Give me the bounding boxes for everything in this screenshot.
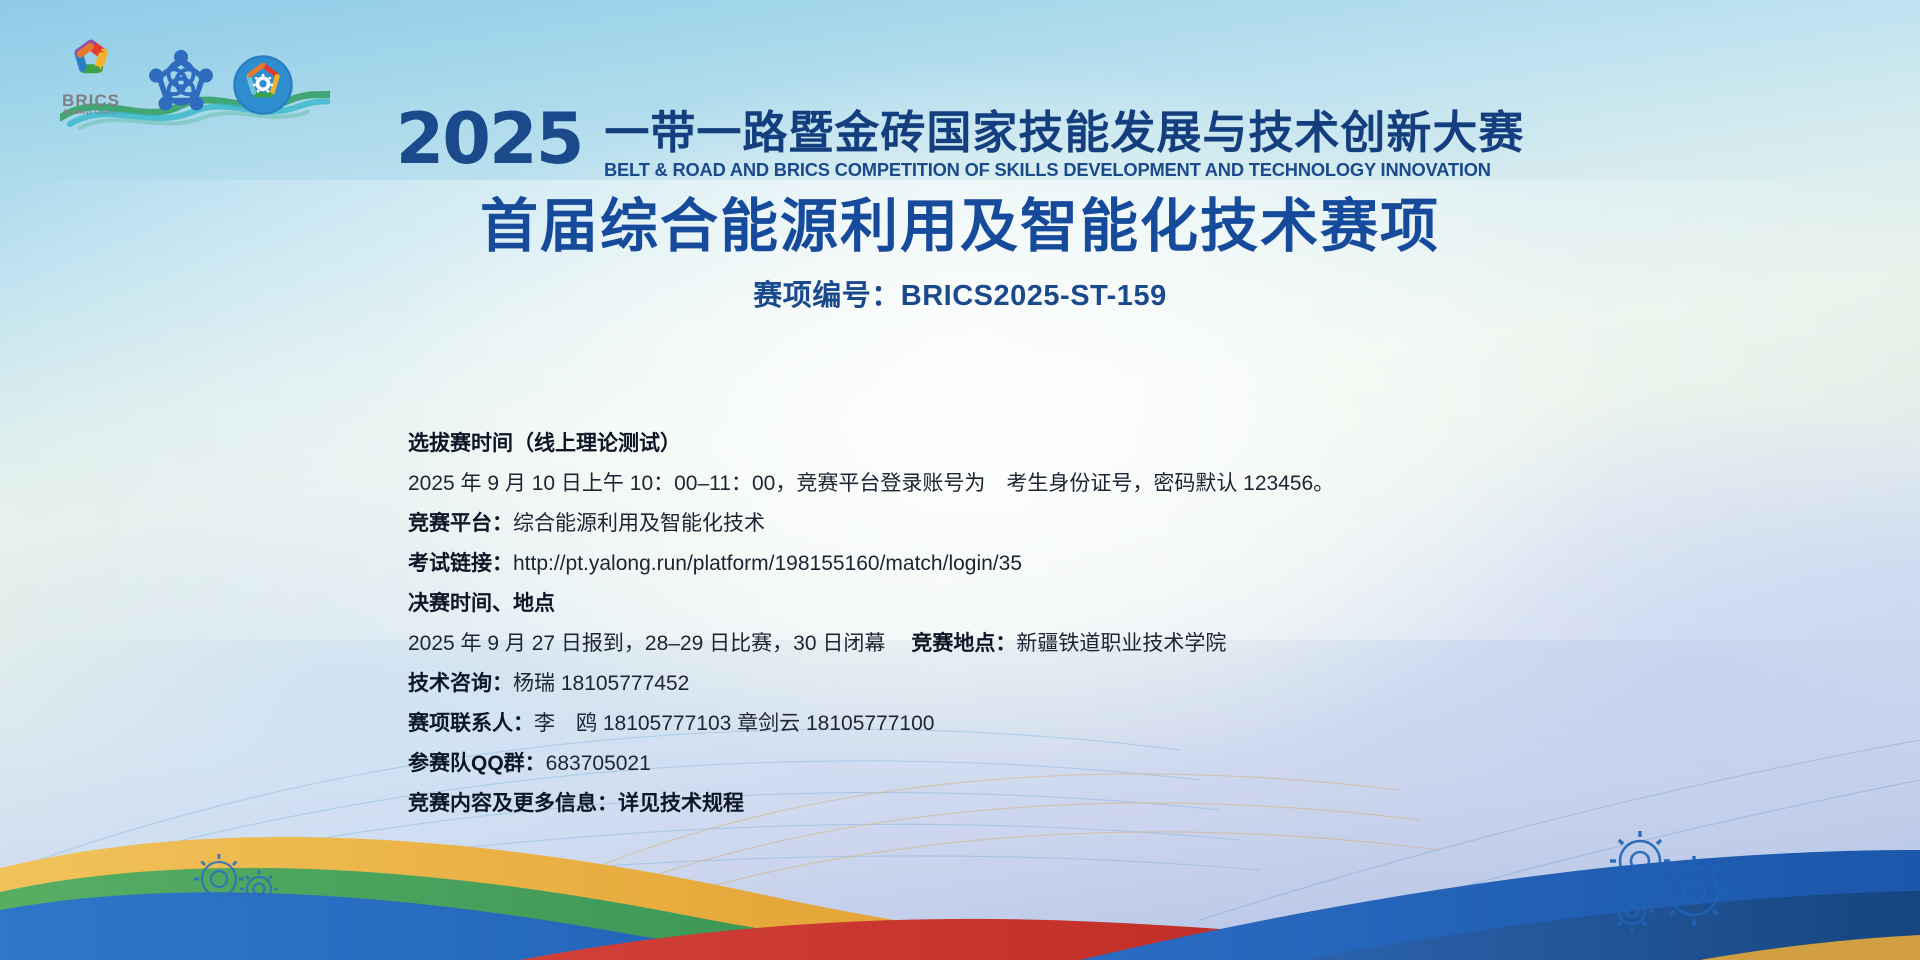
qq-group-label: 参赛队QQ群：	[408, 752, 546, 775]
info-row-platform: 竞赛平台：综合能源利用及智能化技术	[408, 504, 1334, 544]
final-heading: 决赛时间、地点	[408, 592, 555, 615]
info-block: 选拔赛时间（线上理论测试） 2025 年 9 月 10 日上午 10：00–11…	[408, 424, 1334, 824]
contacts-label: 赛项联系人：	[408, 712, 534, 735]
brics-skills-swirl-logo	[142, 46, 220, 116]
selection-time-heading: 选拔赛时间（线上理论测试）	[408, 432, 681, 455]
competition-title-cn: 一带一路暨金砖国家技能发展与技术创新大赛	[604, 108, 1524, 158]
gear-cluster-right-icon	[1590, 825, 1770, 935]
brics-business-council-logo: BRICS Business Council	[52, 36, 130, 116]
info-row-selection-time: 选拔赛时间（线上理论测试）	[408, 424, 1334, 464]
brics-wordmark-line2: Business Council	[52, 109, 130, 118]
gear-cluster-left-icon	[185, 845, 305, 915]
info-row-more-info: 竞赛内容及更多信息：详见技术规程	[408, 784, 1334, 824]
competition-title-en: BELT & ROAD AND BRICS COMPETITION OF SKI…	[604, 158, 1515, 182]
info-row-selection-detail: 2025 年 9 月 10 日上午 10：00–11：00，竞赛平台登录账号为 …	[408, 464, 1334, 504]
info-row-final-detail: 2025 年 9 月 27 日报到，28–29 日比赛，30 日闭幕竞赛地点：新…	[408, 624, 1334, 664]
info-row-exam-link: 考试链接：http://pt.yalong.run/platform/19815…	[408, 544, 1334, 584]
info-row-qq-group: 参赛队QQ群：683705021	[408, 744, 1334, 784]
more-info-value: 详见技术规程	[618, 792, 744, 815]
venue-value: 新疆铁道职业技术学院	[1016, 632, 1226, 655]
project-code: 赛项编号：BRICS2025-ST-159	[0, 272, 1920, 314]
year-label: 2025	[396, 106, 583, 172]
info-row-tech-support: 技术咨询：杨瑞 18105777452	[408, 664, 1334, 704]
competition-emblem-logo	[232, 54, 294, 116]
brics-wordmark: BRICS Business Council	[52, 92, 130, 118]
info-row-contacts: 赛项联系人：李 鸥 18105777103 章剑云 18105777100	[408, 704, 1334, 744]
venue-label: 竞赛地点：	[911, 632, 1016, 655]
more-info-label: 竞赛内容及更多信息：	[408, 792, 618, 815]
exam-link-value[interactable]: http://pt.yalong.run/platform/198155160/…	[513, 552, 1022, 575]
logo-group: BRICS Business Council	[52, 36, 294, 116]
platform-label: 竞赛平台：	[408, 512, 513, 535]
brics-wordmark-line1: BRICS	[52, 92, 130, 109]
poster-canvas: BRICS Business Council	[0, 0, 1920, 960]
tech-support-value: 杨瑞 18105777452	[513, 672, 689, 695]
qq-group-value: 683705021	[546, 752, 651, 775]
brics-star-icon	[63, 36, 119, 92]
final-schedule-value: 2025 年 9 月 27 日报到，28–29 日比赛，30 日闭幕	[408, 632, 885, 655]
platform-value: 综合能源利用及智能化技术	[513, 512, 765, 535]
project-title: 首届综合能源利用及智能化技术赛项	[0, 193, 1920, 261]
header-title-block: 2025 一带一路暨金砖国家技能发展与技术创新大赛 BELT & ROAD AN…	[0, 108, 1920, 182]
exam-link-label: 考试链接：	[408, 552, 513, 575]
selection-time-detail: 2025 年 9 月 10 日上午 10：00–11：00，竞赛平台登录账号为 …	[408, 472, 1334, 495]
project-code-value: BRICS2025-ST-159	[901, 280, 1167, 312]
tech-support-label: 技术咨询：	[408, 672, 513, 695]
project-code-label: 赛项编号：	[753, 280, 901, 312]
info-row-final-heading: 决赛时间、地点	[408, 584, 1334, 624]
contacts-value: 李 鸥 18105777103 章剑云 18105777100	[534, 712, 934, 735]
